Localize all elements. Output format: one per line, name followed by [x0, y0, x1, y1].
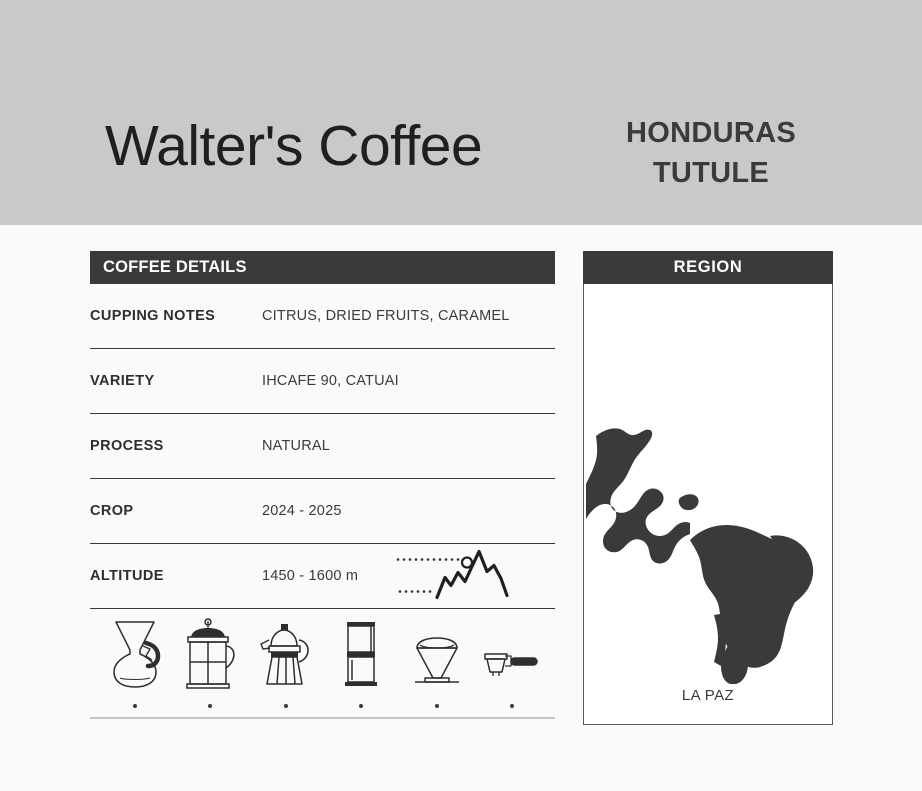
brew-method-dot — [359, 704, 363, 708]
detail-value: 2024 - 2025 — [262, 503, 342, 519]
brew-method-pour-over[interactable] — [408, 618, 466, 717]
detail-label: ALTITUDE — [90, 568, 262, 584]
brew-method-dot — [133, 704, 137, 708]
page-title: Walter's Coffee — [105, 118, 482, 175]
cold-brew-tower-icon — [332, 618, 390, 695]
coffee-details-card: COFFEE DETAILS CUPPING NOTES CITRUS, DRI… — [90, 251, 555, 719]
region-body: LA PAZ — [583, 284, 833, 725]
detail-label: CROP — [90, 503, 262, 519]
mountain-altitude-icon — [395, 546, 513, 607]
brew-method-french-press[interactable] — [181, 618, 239, 717]
coffee-details-header: COFFEE DETAILS — [90, 251, 555, 284]
region-caption: LA PAZ — [584, 687, 832, 704]
region-title: REGION — [674, 258, 743, 277]
moka-pot-icon — [257, 618, 315, 695]
region-header: REGION — [583, 251, 833, 284]
brew-methods-strip — [90, 609, 555, 719]
detail-row-variety: VARIETY IHCAFE 90, CATUAI — [90, 349, 555, 414]
brew-method-dot — [435, 704, 439, 708]
detail-row-process: PROCESS NATURAL — [90, 414, 555, 479]
brew-method-cold-brew-tower[interactable] — [332, 618, 390, 717]
coffee-details-title: COFFEE DETAILS — [90, 258, 247, 277]
origin-farm: TUTULE — [585, 153, 837, 193]
detail-label: PROCESS — [90, 438, 262, 454]
brew-method-dot — [510, 704, 514, 708]
brew-method-chemex[interactable] — [106, 618, 164, 717]
detail-row-crop: CROP 2024 - 2025 — [90, 479, 555, 544]
detail-value: IHCAFE 90, CATUAI — [262, 373, 399, 389]
detail-row-altitude: ALTITUDE 1450 - 1600 m — [90, 544, 555, 609]
latin-america-map — [584, 284, 832, 689]
espresso-portafilter-icon — [483, 618, 541, 695]
region-card: REGION — [583, 251, 833, 725]
detail-value: CITRUS, DRIED FRUITS, CARAMEL — [262, 308, 510, 324]
brew-method-espresso[interactable] — [483, 618, 541, 717]
chemex-icon — [106, 618, 164, 695]
location-marker — [670, 458, 686, 474]
detail-label: VARIETY — [90, 373, 262, 389]
detail-label: CUPPING NOTES — [90, 308, 262, 324]
french-press-icon — [181, 618, 239, 695]
pour-over-dripper-icon — [408, 618, 466, 695]
origin-heading: HONDURAS TUTULE — [585, 113, 837, 193]
origin-country: HONDURAS — [585, 113, 837, 153]
brew-method-dot — [208, 704, 212, 708]
detail-value: NATURAL — [262, 438, 330, 454]
brew-method-dot — [284, 704, 288, 708]
detail-value: 1450 - 1600 m — [262, 568, 358, 584]
brew-method-moka-pot[interactable] — [257, 618, 315, 717]
detail-row-cupping-notes: CUPPING NOTES CITRUS, DRIED FRUITS, CARA… — [90, 284, 555, 349]
